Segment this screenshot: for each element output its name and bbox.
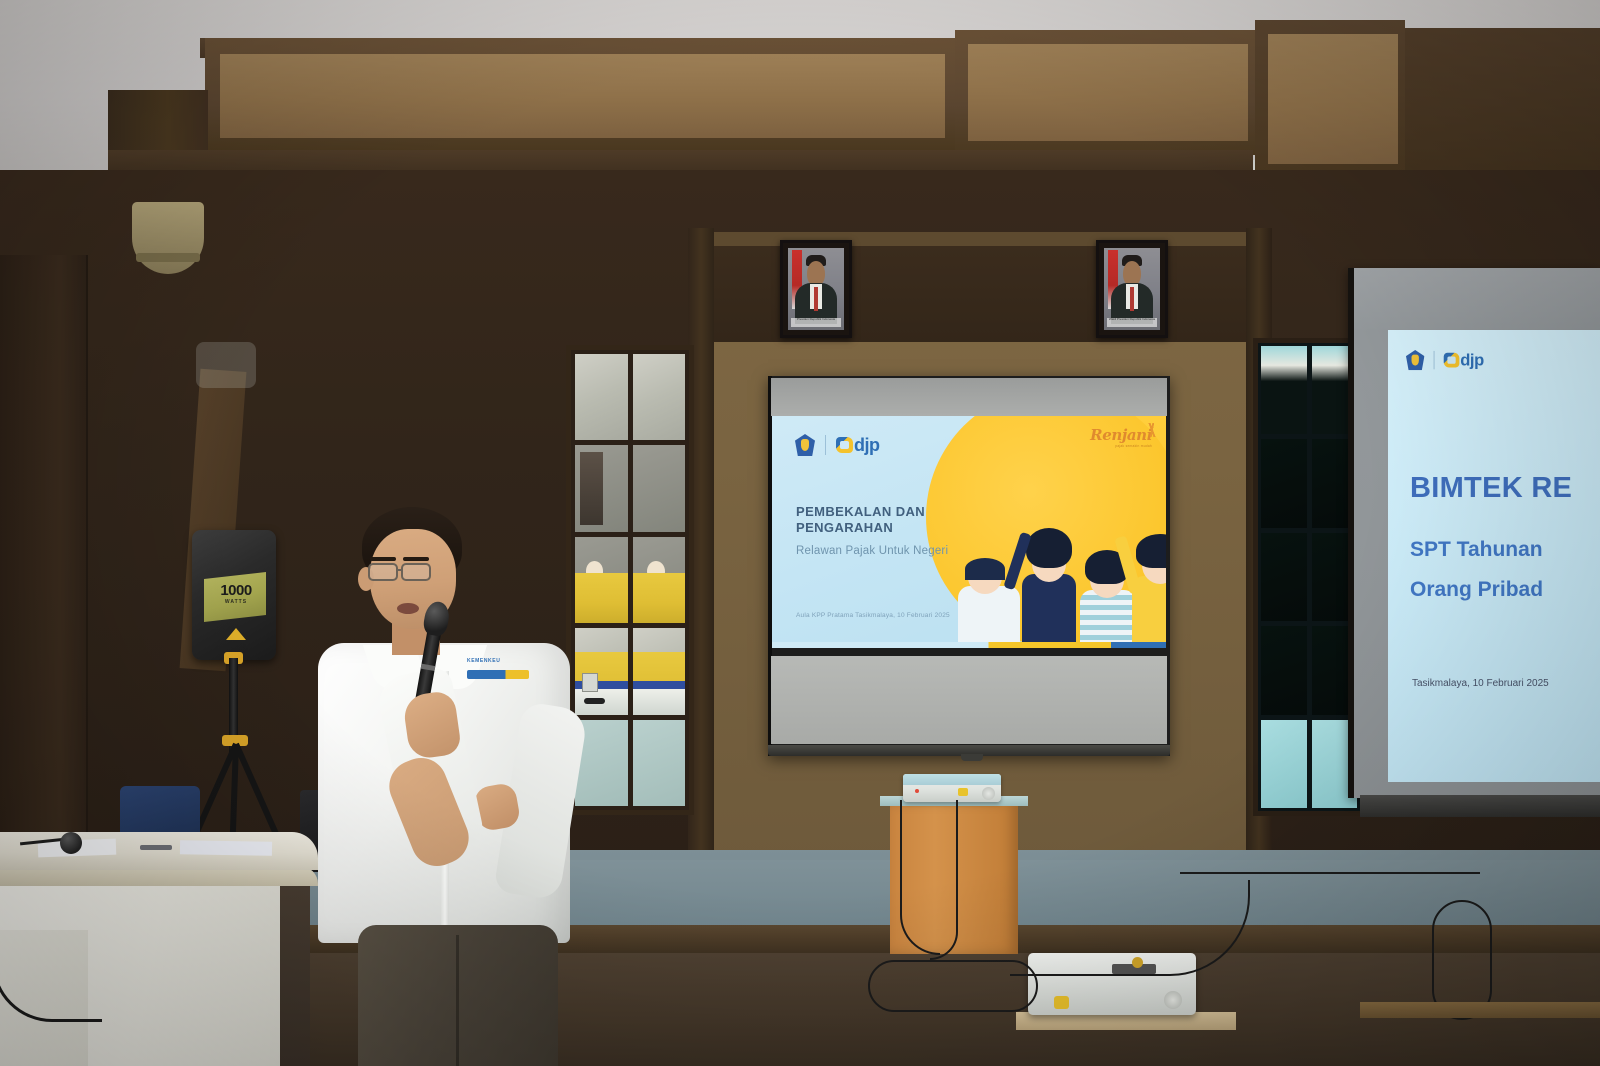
renjani-campaign-logo: Renjani pajak semakin mudah bbox=[1090, 426, 1152, 448]
door-pane bbox=[575, 354, 628, 440]
renjani-rays-icon bbox=[1144, 423, 1160, 437]
djp-logo: djp bbox=[836, 435, 880, 456]
air-conditioner-icon bbox=[132, 202, 204, 274]
audience-yellow-uniform bbox=[633, 573, 686, 623]
desk-pen bbox=[140, 845, 172, 850]
pa-power-number: 1000 bbox=[206, 582, 266, 599]
window-pane bbox=[1261, 720, 1307, 808]
kemenkeu-crest-icon bbox=[1406, 350, 1424, 370]
long-floor-cable bbox=[1180, 872, 1480, 882]
plastic-sheet bbox=[196, 342, 256, 388]
renjani-wordmark: Renjani bbox=[1090, 426, 1152, 444]
desk-cable bbox=[0, 932, 102, 1022]
portrait-image: Wakil Presiden Republik Indonesia bbox=[1104, 248, 1160, 330]
djp-mark-icon bbox=[1444, 353, 1460, 368]
window-pane bbox=[1261, 626, 1307, 714]
microphone-head bbox=[422, 600, 452, 638]
wooden-plank bbox=[1360, 1002, 1600, 1018]
glasses-lens-left-icon bbox=[368, 563, 398, 581]
door-pane bbox=[633, 720, 686, 806]
screen-blank-bottom bbox=[771, 656, 1167, 744]
portrait-tie bbox=[814, 287, 818, 312]
presenter-eyebrow-left bbox=[370, 557, 396, 561]
slide2-line2: Orang Pribad bbox=[1410, 578, 1543, 602]
screen-blank-top bbox=[771, 378, 1167, 416]
djp-logo-text: djp bbox=[854, 435, 880, 456]
podium-projector bbox=[903, 774, 1001, 802]
slide2-title: BIMTEK RE bbox=[1410, 472, 1600, 505]
door-pane bbox=[633, 628, 686, 714]
kemenkeu-crest-icon bbox=[795, 434, 815, 456]
door-pane bbox=[633, 537, 686, 623]
soffit-right-face bbox=[1268, 34, 1398, 164]
white-counter bbox=[633, 689, 686, 715]
secondary-projection-screen: djp BIMTEK RE SPT Tahunan Orang Pribad T… bbox=[1348, 268, 1600, 798]
soffit-center-face bbox=[968, 44, 1248, 141]
presenter-mouth bbox=[397, 603, 419, 614]
renjani-tagline: pajak semakin mudah bbox=[1090, 444, 1152, 448]
door-pane bbox=[633, 354, 686, 440]
slide-title-line2: PENGARAHAN bbox=[796, 520, 996, 536]
projector-vga-connector-icon bbox=[958, 788, 968, 796]
presenter-eyebrow-right bbox=[403, 557, 429, 561]
soffit-left-face bbox=[220, 54, 945, 138]
slide2-brand-row: djp bbox=[1406, 350, 1484, 370]
main-projection-screen: djp Renjani pajak semakin mudah PEMBEKAL… bbox=[768, 376, 1170, 756]
wall-left-panel bbox=[0, 255, 88, 875]
desk-paper bbox=[180, 840, 272, 856]
main-slide: djp Renjani pajak semakin mudah PEMBEKAL… bbox=[772, 416, 1166, 648]
photo-scene: Presiden Republik Indonesia Wakil Presid… bbox=[0, 0, 1600, 1066]
portrait-image: Presiden Republik Indonesia bbox=[788, 248, 844, 330]
air-conditioner-vent bbox=[136, 253, 200, 262]
projector-lens-icon bbox=[1164, 991, 1182, 1009]
slide-subtitle: Relawan Pajak Untuk Negeri bbox=[796, 545, 1016, 557]
pa-power-unit: WATTS bbox=[206, 599, 266, 605]
secondary-slide: djp BIMTEK RE SPT Tahunan Orang Pribad T… bbox=[1388, 330, 1600, 782]
illustration-person-yellow bbox=[1124, 520, 1166, 648]
projector-vga-cable bbox=[930, 800, 958, 960]
presidential-portrait-frame: Presiden Republik Indonesia bbox=[780, 240, 852, 338]
presenter-trouser-seam bbox=[456, 935, 459, 1066]
portrait-head bbox=[1123, 261, 1141, 286]
slide-title-line1: PEMBEKALAN DAN bbox=[796, 504, 996, 520]
vice-presidential-portrait-frame: Wakil Presiden Republik Indonesia bbox=[1096, 240, 1168, 338]
portrait-head bbox=[807, 261, 825, 286]
floor-cable-run bbox=[1010, 880, 1250, 976]
slide-venue-date: Aula KPP Pratama Tasikmalaya, 10 Februar… bbox=[796, 612, 950, 619]
projector-status-led bbox=[915, 789, 919, 793]
slide2-line1: SPT Tahunan bbox=[1410, 538, 1543, 562]
door-pane bbox=[633, 445, 686, 531]
desk-microphone-icon bbox=[60, 832, 82, 854]
glasses-lens-right-icon bbox=[401, 563, 431, 581]
window-pane bbox=[1261, 346, 1307, 434]
slide-footer-bar bbox=[772, 642, 1166, 648]
logo-divider bbox=[1434, 351, 1435, 369]
slide-title: PEMBEKALAN DAN PENGARAHAN bbox=[796, 504, 996, 536]
slide2-date: Tasikmalaya, 10 Februari 2025 bbox=[1412, 678, 1549, 689]
portrait-caption: Presiden Republik Indonesia bbox=[791, 318, 840, 327]
portrait-caption: Wakil Presiden Republik Indonesia bbox=[1107, 318, 1156, 327]
glasses-bridge bbox=[398, 569, 403, 571]
window-pane bbox=[1261, 439, 1307, 527]
projector-top-cover bbox=[903, 774, 1001, 785]
projector-lens-icon bbox=[982, 787, 995, 800]
right-floor-dark-strip bbox=[1360, 795, 1600, 817]
screen-weight-bar bbox=[768, 745, 1170, 756]
window-pane bbox=[1261, 533, 1307, 621]
djp-mark-icon bbox=[836, 437, 853, 453]
logo-divider bbox=[825, 435, 826, 455]
presenter-badge-stripe bbox=[467, 670, 529, 679]
screen2-left-edge bbox=[1348, 268, 1354, 798]
slide-brand-row: djp bbox=[795, 434, 880, 456]
projector-yellow-plug-icon bbox=[1054, 996, 1069, 1009]
portrait-tie bbox=[1130, 287, 1134, 312]
table-blue-skirt bbox=[633, 681, 686, 689]
djp-logo-text: djp bbox=[1460, 350, 1483, 369]
presenter-badge-text: KEMENKEU bbox=[467, 658, 519, 668]
presenter: KEMENKEU bbox=[300, 495, 600, 1066]
djp-logo: djp bbox=[1444, 350, 1484, 369]
soffit-far-right bbox=[1405, 28, 1600, 178]
behringer-triangle-icon bbox=[226, 628, 246, 640]
pa-speaker: 1000 WATTS bbox=[192, 530, 276, 660]
